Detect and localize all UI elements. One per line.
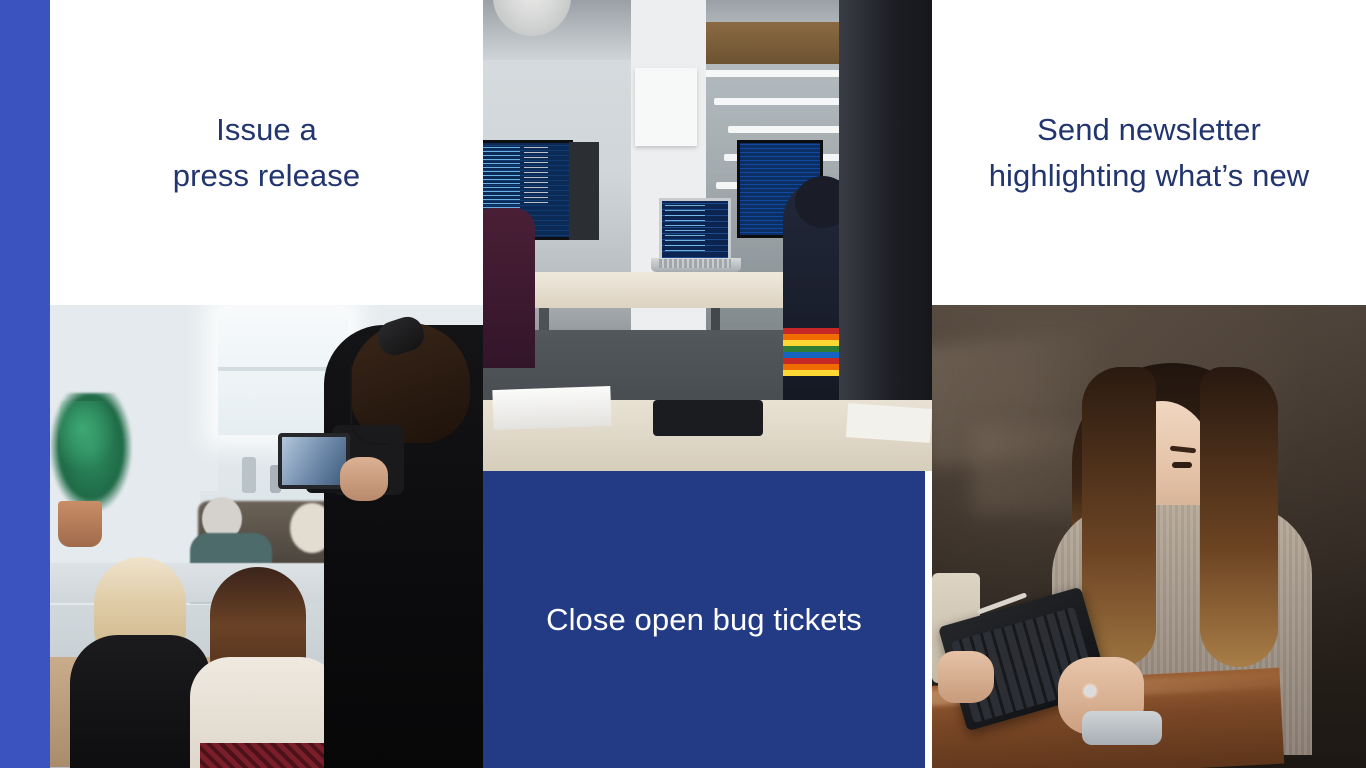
video-operator-hand bbox=[340, 457, 388, 501]
caption-newsletter: Send newsletter highlighting what’s new bbox=[989, 107, 1310, 199]
office-laptop-keyboard bbox=[659, 259, 731, 268]
office-foreground-paper bbox=[492, 386, 611, 430]
tablet-woman-hair-strand bbox=[1082, 367, 1156, 667]
video-microphone-cable bbox=[350, 365, 390, 445]
video-brunette-person-skirt bbox=[200, 743, 340, 768]
left-accent-bar bbox=[0, 0, 50, 768]
video-vase bbox=[242, 457, 256, 493]
tablet-woman-hair-strand bbox=[1200, 367, 1278, 667]
caption-bug-tickets: Close open bug tickets bbox=[546, 597, 862, 643]
panel-bug-tickets[interactable]: Close open bug tickets bbox=[483, 471, 925, 768]
video-plant-leaves bbox=[60, 401, 116, 471]
photo-tablet-woman bbox=[932, 305, 1366, 768]
tablet-woman-ring bbox=[1084, 685, 1096, 697]
office-foreground-device bbox=[653, 400, 763, 436]
office-code-lines bbox=[483, 147, 520, 217]
office-foreground-paper bbox=[846, 403, 932, 443]
panel-newsletter[interactable]: Send newsletter highlighting what’s new bbox=[932, 0, 1366, 305]
slide-canvas: Issue a press release Send newsletter hi… bbox=[0, 0, 1366, 768]
video-plant-pot bbox=[58, 501, 102, 547]
office-whiteboard bbox=[635, 68, 697, 146]
caption-press-release: Issue a press release bbox=[173, 107, 360, 199]
tablet-woman-left-hand bbox=[938, 651, 994, 703]
photo-video-shoot bbox=[50, 305, 483, 768]
office-monitor-back bbox=[569, 142, 599, 240]
office-person-left bbox=[483, 208, 535, 368]
photo-office bbox=[483, 0, 932, 471]
tablet-woman-sleeve-cuff bbox=[1082, 711, 1162, 745]
tablet-woman-eye bbox=[1172, 462, 1192, 468]
office-laptop-code bbox=[665, 205, 705, 253]
office-laptop bbox=[659, 198, 731, 260]
office-desk bbox=[513, 272, 813, 308]
office-code-lines bbox=[524, 147, 548, 205]
video-blonde-person-body bbox=[70, 635, 210, 768]
office-foreground-monitor bbox=[839, 0, 932, 410]
video-camera-screen-preview bbox=[282, 437, 346, 485]
panel-press-release[interactable]: Issue a press release bbox=[50, 0, 483, 305]
